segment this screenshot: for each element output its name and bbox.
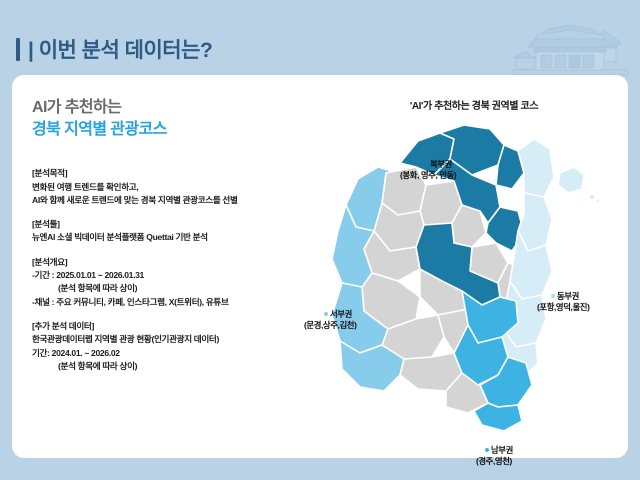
map-label-south-name: 남부권 (491, 445, 513, 455)
map-label-north-name: 북부권 (430, 159, 452, 169)
slide-header: | 이번 분석 데이터는? (16, 34, 212, 64)
map-label-north: 북부권 (봉화, 영주, 안동) (400, 159, 456, 181)
map-label-west-cities: (문경,상주,김천) (304, 320, 356, 331)
info-block: [분석개요] -기간 : 2025.01.01 ~ 2026.01.31 (분석… (32, 256, 332, 309)
info-block: [분석툴] 뉴엔AI 소셜 빅데이터 분석플랫폼 Quettai 기반 분석 (32, 218, 332, 245)
left-column: AI가 추천하는 경북 지역별 관광코스 [분석목적] 변화된 여행 트렌드를 … (32, 97, 332, 373)
info-block-line: 한국관광데이터랩 지역별 관광 현황(인기관광지 데이터) (32, 333, 332, 346)
info-block-line: 기간: 2024.01. ~ 2026.02 (32, 347, 332, 360)
info-block-heading: [추가 분석 데이터] (32, 320, 332, 333)
info-block-line: -채널 : 주요 커뮤니티, 카페, 인스타그램, X(트위터), 유튜브 (32, 296, 332, 309)
map-label-east: 동부권 (포항,영덕,울진) (537, 291, 589, 313)
map-label-west: 서부권 (문경,상주,김천) (304, 309, 356, 331)
map-dot-north (424, 162, 428, 166)
info-block-line: -기간 : 2025.01.01 ~ 2026.01.31 (32, 269, 332, 282)
info-block-line: 뉴엔AI 소셜 빅데이터 분석플랫폼 Quettai 기반 분석 (32, 231, 332, 244)
subtitle-line-2: 경북 지역별 관광코스 (32, 119, 332, 141)
map-title: 'AI'가 추천하는 경북 권역별 코스 (336, 97, 612, 112)
info-block-heading: [분석툴] (32, 218, 332, 231)
content-card: AI가 추천하는 경북 지역별 관광코스 [분석목적] 변화된 여행 트렌드를 … (12, 75, 628, 458)
map-dot-south (485, 448, 489, 452)
header-accent-bar (16, 38, 20, 61)
map-label-west-name: 서부권 (330, 309, 352, 319)
info-block-heading: [분석개요] (32, 256, 332, 269)
info-block-line: 변화된 여행 트렌드를 확인하고, (32, 181, 332, 194)
info-block-line: (분석 항목에 따라 상이) (32, 282, 332, 295)
subtitle-line-1: AI가 추천하는 (32, 97, 332, 119)
map-label-south: 남부권 (경주,영천) (475, 445, 513, 467)
map-label-east-cities: (포항,영덕,울진) (537, 302, 589, 313)
info-block-line: (분석 항목에 따라 상이) (32, 360, 332, 373)
gyeongbuk-region-map: 북부권 (봉화, 영주, 안동) 동부권 (포항,영덕,울진) 서부권 (문경,… (312, 119, 612, 439)
map-column: 'AI'가 추천하는 경북 권역별 코스 (312, 97, 612, 442)
page-title: | 이번 분석 데이터는? (28, 34, 212, 64)
map-label-east-name: 동부권 (557, 291, 579, 301)
map-label-north-cities: (봉화, 영주, 안동) (400, 170, 456, 181)
info-block-line: AI와 함께 새로운 트렌드에 맞는 경북 지역별 관광코스를 선별 (32, 194, 332, 207)
map-label-south-cities: (경주,영천) (475, 456, 513, 467)
slide-canvas: | 이번 분석 데이터는? AI가 추천하는 경북 지역별 관광코스 [분석목적… (0, 0, 640, 480)
analysis-info-blocks: [분석목적] 변화된 여행 트렌드를 확인하고, AI와 함께 새로운 트렌드에… (32, 167, 332, 373)
hanok-building-icon (508, 18, 634, 80)
map-dot-west (324, 312, 328, 316)
info-block-heading: [분석목적] (32, 167, 332, 180)
info-block: [추가 분석 데이터] 한국관광데이터랩 지역별 관광 현황(인기관광지 데이터… (32, 320, 332, 373)
map-dot-east (551, 294, 555, 298)
info-block: [분석목적] 변화된 여행 트렌드를 확인하고, AI와 함께 새로운 트렌드에… (32, 167, 332, 207)
